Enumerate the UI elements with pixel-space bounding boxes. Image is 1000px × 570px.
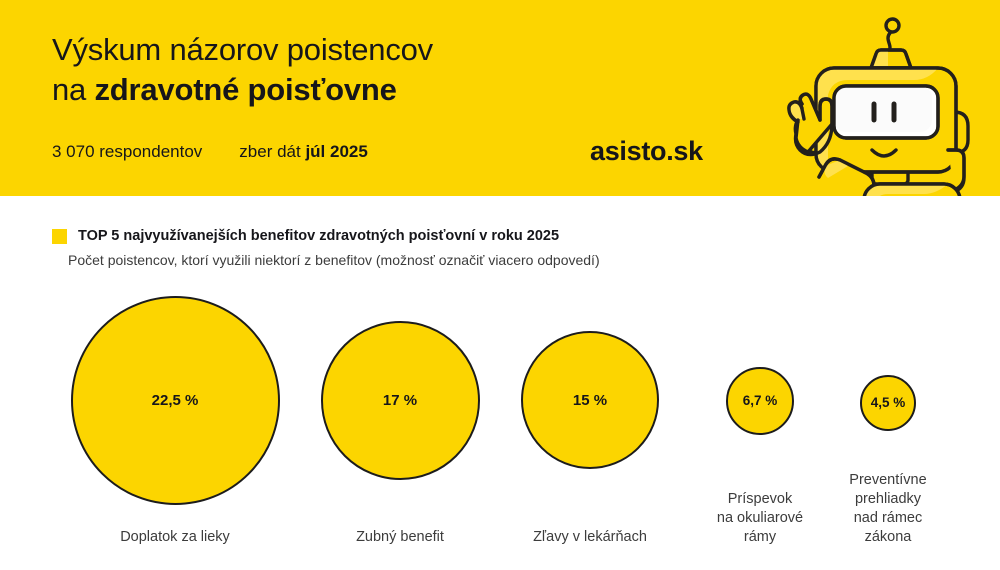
bubble-3: 15 % [521,331,659,469]
bubble-value-label: 17 % [383,393,417,408]
bubble-value-label: 15 % [573,393,607,408]
bubble-chart: 22,5 %Doplatok za lieky17 %Zubný benefit… [0,0,1000,570]
bubble-value-label: 4,5 % [871,396,906,410]
bubble-5: 4,5 % [860,375,916,431]
bubble-2: 17 % [321,321,480,480]
bubble-caption-1: Doplatok za lieky [70,528,280,547]
bubble-1: 22,5 % [71,296,280,505]
infographic-page: Výskum názorov poistencov na zdravotné p… [0,0,1000,570]
bubble-value-label: 22,5 % [152,393,199,408]
bubble-4: 6,7 % [726,367,794,435]
bubble-value-label: 6,7 % [743,394,778,408]
bubble-caption-5: Preventívne prehliadky nad rámec zákona [783,471,993,547]
bubble-caption-2: Zubný benefit [295,528,505,547]
